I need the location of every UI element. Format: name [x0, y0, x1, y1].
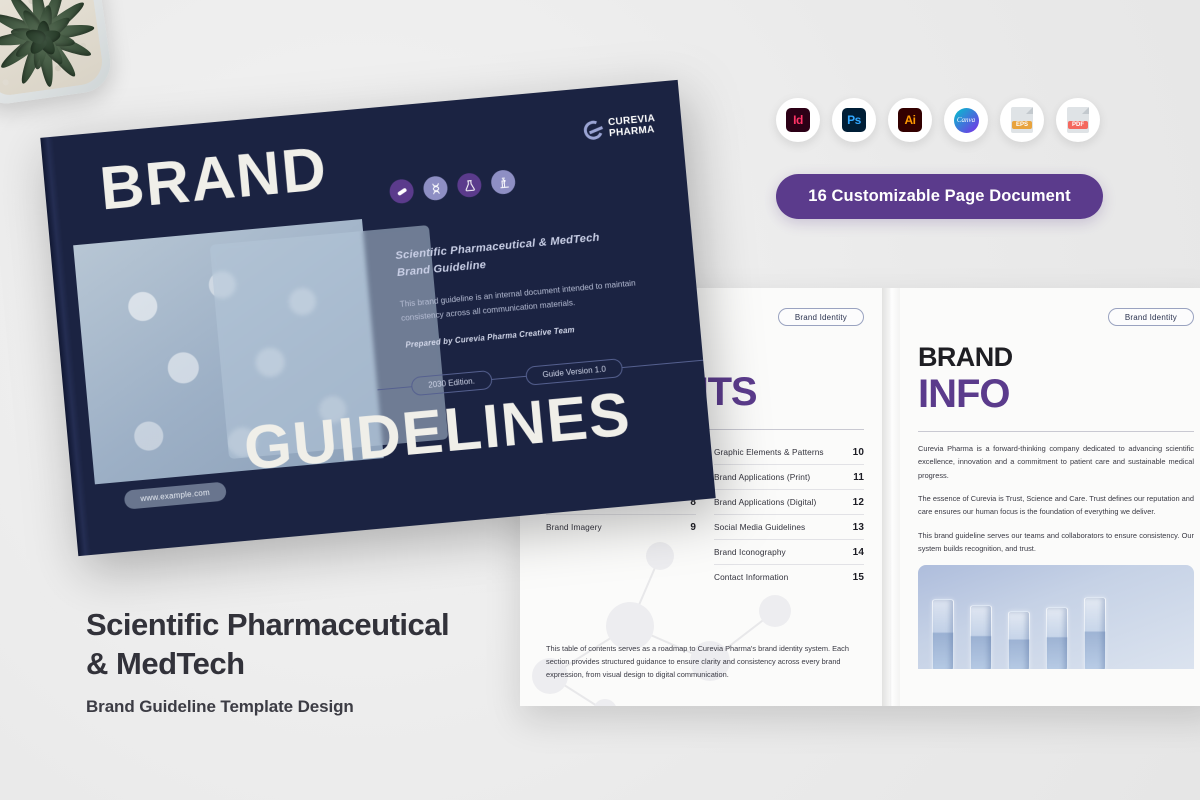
pill-capsule-icon: [389, 178, 415, 204]
canva-icon: Canva: [954, 108, 979, 133]
brand-identity-tag-right: Brand Identity: [1108, 308, 1194, 326]
cover-subtitle: Scientific Pharmaceutical & MedTech Bran…: [395, 224, 667, 282]
meta-line-middle: [492, 376, 526, 380]
eps-file-label: EPS: [1012, 121, 1032, 129]
toc-row-label: Brand Applications (Print): [714, 472, 810, 482]
plant-pot: [0, 0, 114, 106]
toc-row-page-number: 11: [853, 472, 864, 483]
adobe-photoshop-icon: Ps: [842, 108, 866, 132]
caption-subtitle: Brand Guideline Template Design: [86, 697, 449, 717]
toc-row[interactable]: Contact Information15: [714, 565, 864, 589]
brand-info-body: Curevia Pharma is a forward-thinking com…: [918, 442, 1194, 555]
format-badge-pdf[interactable]: PDF: [1056, 98, 1100, 142]
format-badge-photoshop[interactable]: Ps: [832, 98, 876, 142]
toc-row[interactable]: Brand Applications (Digital)12: [714, 490, 864, 515]
cover-description: This brand guideline is an internal docu…: [399, 275, 651, 326]
pdf-file-label: PDF: [1068, 121, 1088, 129]
dna-helix-icon: [422, 175, 448, 201]
toc-row-label: Brand Iconography: [714, 547, 786, 557]
toc-row-page-number: 12: [853, 497, 864, 508]
toc-row[interactable]: Brand Iconography14: [714, 540, 864, 565]
eps-file-icon: EPS: [1011, 107, 1033, 133]
cover-subtitle-line2: Brand Guideline: [396, 259, 486, 279]
curevia-pharma-logo: CUREVIA PHARMA: [583, 114, 657, 142]
meta-line-end: [623, 360, 703, 368]
laboratory-test-tubes-photo: [918, 565, 1194, 669]
cover-icon-row: [389, 169, 517, 204]
format-badge-illustrator[interactable]: Ai: [888, 98, 932, 142]
meta-line-start: [377, 386, 411, 390]
toc-row-label: Social Media Guidelines: [714, 522, 805, 532]
caption-title: Scientific Pharmaceutical & MedTech: [86, 605, 449, 683]
toc-row-page-number: 9: [690, 522, 696, 533]
caption-title-line2: & MedTech: [86, 646, 245, 681]
toc-row-label: Brand Imagery: [546, 522, 602, 532]
format-badge-eps[interactable]: EPS: [1000, 98, 1044, 142]
format-badge-indesign[interactable]: Id: [776, 98, 820, 142]
microscope-icon: [490, 169, 516, 195]
brand-info-heading-line2: INFO: [918, 373, 1194, 415]
toc-row-label: Brand Applications (Digital): [714, 497, 816, 507]
format-badge-canva[interactable]: Canva: [944, 98, 988, 142]
toc-column-right: Graphic Elements & Patterns10Brand Appli…: [714, 440, 864, 589]
toc-row-page-number: 13: [853, 522, 864, 533]
toc-row-page-number: 10: [853, 447, 864, 458]
toc-row[interactable]: Brand Applications (Print)11: [714, 465, 864, 490]
flask-icon: [456, 172, 482, 198]
brand-info-heading: BRAND INFO: [918, 344, 1194, 415]
spread-gutter-shadow: [882, 288, 900, 706]
toc-row[interactable]: Graphic Elements & Patterns10: [714, 440, 864, 465]
file-format-badge-row: Id Ps Ai Canva EPS PDF: [776, 98, 1100, 142]
brand-info-heading-line1: BRAND: [918, 344, 1194, 371]
brand-info-divider: [918, 431, 1194, 432]
brand-guidelines-book-cover: BRAND GUIDELINES CUREVIA PHARMA: [40, 80, 715, 556]
toc-row-page-number: 15: [853, 572, 864, 583]
curevia-logo-text: CUREVIA PHARMA: [608, 114, 657, 140]
cover-title-brand: BRAND: [97, 138, 329, 219]
curevia-monogram-icon: [581, 118, 606, 143]
brand-info-paragraph: Curevia Pharma is a forward-thinking com…: [918, 442, 1194, 482]
toc-row-label: Graphic Elements & Patterns: [714, 447, 824, 457]
adobe-indesign-icon: Id: [786, 108, 810, 132]
succulent-plant-decoration: [0, 0, 118, 107]
toc-description: This table of contents serves as a roadm…: [546, 643, 864, 682]
adobe-illustrator-icon: Ai: [898, 108, 922, 132]
toc-row-label: Contact Information: [714, 572, 788, 582]
pdf-file-icon: PDF: [1067, 107, 1089, 133]
toc-row-page-number: 14: [853, 547, 864, 558]
cover-surface: BRAND GUIDELINES CUREVIA PHARMA: [40, 80, 715, 556]
customizable-pages-badge[interactable]: 16 Customizable Page Document: [776, 174, 1103, 219]
cover-website-url: www.example.com: [124, 482, 227, 510]
caption-title-line1: Scientific Pharmaceutical: [86, 607, 449, 642]
brand-identity-tag-left: Brand Identity: [778, 308, 864, 326]
brand-info-tag-row: Brand Identity: [918, 308, 1194, 326]
brand-info-paragraph: The essence of Curevia is Trust, Science…: [918, 492, 1194, 519]
spread-page-brand-info: Brand Identity BRAND INFO Curevia Pharma…: [892, 288, 1200, 706]
toc-row[interactable]: Brand Imagery9: [546, 515, 696, 539]
product-caption: Scientific Pharmaceutical & MedTech Bran…: [86, 605, 449, 717]
brand-info-paragraph: This brand guideline serves our teams an…: [918, 529, 1194, 556]
toc-row[interactable]: Social Media Guidelines13: [714, 515, 864, 540]
